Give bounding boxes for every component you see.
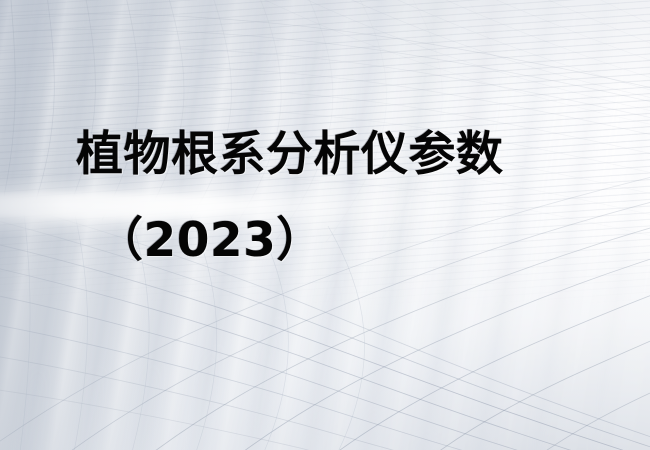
slide-text-block: 植物根系分析仪参数 （2023）: [0, 0, 650, 450]
title-slide: 植物根系分析仪参数 （2023）: [0, 0, 650, 450]
slide-title: 植物根系分析仪参数: [76, 126, 504, 184]
slide-subtitle-year: （2023）: [96, 212, 324, 270]
